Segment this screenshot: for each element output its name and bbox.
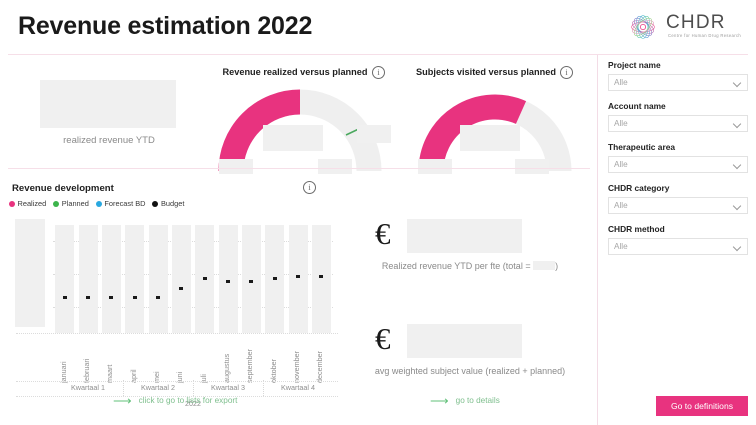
gauge-revenue-realized-vs-planned: Revenue realized versus planned i	[205, 63, 395, 208]
header: Revenue estimation 2022 CHDR Centre for …	[0, 0, 756, 55]
filter-dropdown[interactable]: Alle	[608, 197, 748, 214]
month-label: juni	[175, 335, 184, 383]
chart-bar[interactable]	[149, 225, 168, 333]
realized-revenue-ytd-label: realized revenue YTD	[20, 135, 198, 146]
kpi-realized-revenue-per-fte: € Realized revenue YTD per fte (total = …	[355, 217, 585, 257]
quarter-label: Kwartaal 4	[263, 383, 333, 392]
kpi-1-label-suffix: )	[555, 261, 558, 271]
budget-marker	[86, 296, 90, 299]
link-label: click to go to lists for export	[139, 396, 238, 405]
go-to-definitions-button[interactable]: Go to definitions	[656, 396, 748, 416]
chart-bar[interactable]	[289, 225, 308, 333]
budget-marker	[319, 275, 323, 278]
legend-swatch-planned	[53, 201, 59, 207]
y-axis-labels-redacted	[15, 219, 45, 327]
filter-pane: Project name Alle Account name Alle Ther…	[600, 55, 756, 425]
gauge-1-max	[318, 159, 352, 174]
quarter-tick	[263, 380, 264, 396]
link-lists-for-export[interactable]: ⟶ click to go to lists for export	[113, 395, 237, 406]
gauge-1-target	[357, 125, 391, 143]
filter-label: Therapeutic area	[608, 142, 748, 152]
chdr-logo: CHDR Centre for Human Drug Research	[624, 6, 744, 48]
month-label: januari	[59, 335, 68, 383]
filter-therapeutic-area: Therapeutic area Alle	[608, 142, 748, 173]
chdr-spirograph-icon	[624, 8, 662, 46]
legend-item: Realized	[9, 199, 46, 208]
chart-bar[interactable]	[55, 225, 74, 333]
kpi-1-value	[407, 219, 522, 253]
filter-label: CHDR category	[608, 183, 748, 193]
budget-marker	[109, 296, 113, 299]
chart-bar[interactable]	[125, 225, 144, 333]
month-label: december	[315, 335, 324, 383]
chevron-down-icon	[734, 162, 741, 169]
budget-marker	[249, 280, 253, 283]
quarter-label: Kwartaal 2	[123, 383, 193, 392]
logo-wordmark: CHDR	[666, 12, 726, 34]
legend-item: Forecast BD	[96, 199, 146, 208]
kpi-2-label: avg weighted subject value (realized + p…	[355, 366, 585, 376]
dashboard-page: Revenue estimation 2022 CHDR Centre for …	[0, 0, 756, 425]
info-icon[interactable]: i	[560, 66, 573, 79]
report-canvas: realized revenue YTD Revenue realized ve…	[0, 55, 598, 425]
month-label: februari	[82, 335, 91, 383]
budget-marker	[203, 277, 207, 280]
arrow-right-icon: ⟶	[430, 395, 449, 406]
filter-dropdown[interactable]: Alle	[608, 115, 748, 132]
chevron-down-icon	[734, 203, 741, 210]
info-icon[interactable]: i	[303, 181, 316, 194]
month-label: november	[292, 335, 301, 383]
gauge-2-max	[515, 159, 549, 174]
budget-marker	[156, 296, 160, 299]
pane-divider	[597, 55, 598, 425]
gauge-1-min	[219, 159, 253, 174]
filter-label: CHDR method	[608, 224, 748, 234]
legend-swatch-forecast-bd	[96, 201, 102, 207]
filter-dropdown[interactable]: Alle	[608, 238, 748, 255]
chart-legend: Realized Planned Forecast BD Budget	[9, 199, 184, 208]
chevron-down-icon	[734, 80, 741, 87]
chart-bar[interactable]	[102, 225, 121, 333]
arrow-right-icon: ⟶	[113, 395, 132, 406]
month-label: september	[245, 335, 254, 383]
kpi-1-label-prefix: Realized revenue YTD per fte (total =	[382, 261, 533, 271]
filter-dropdown[interactable]: Alle	[608, 74, 748, 91]
legend-swatch-budget	[152, 201, 158, 207]
filter-value: Alle	[614, 119, 628, 128]
filter-value: Alle	[614, 201, 628, 210]
chart-quarter-axis-line	[16, 381, 338, 382]
filter-project-name: Project name Alle	[608, 60, 748, 91]
chart-plot-area	[53, 215, 333, 333]
gauge-2-value	[460, 125, 520, 151]
chart-axis-line	[16, 333, 338, 334]
filter-label: Project name	[608, 60, 748, 70]
chart-month-axis: januarifebruarimaartaprilmeijunijuliaugu…	[53, 335, 333, 383]
legend-label: Forecast BD	[104, 199, 145, 208]
kpi-2-value	[407, 324, 522, 358]
euro-symbol: €	[375, 320, 391, 358]
revenue-development-chart: januarifebruarimaartaprilmeijunijuliaugu…	[8, 215, 338, 380]
filter-chdr-method: CHDR method Alle	[608, 224, 748, 255]
legend-label: Realized	[18, 199, 47, 208]
month-label: april	[129, 335, 138, 383]
month-label: juli	[199, 335, 208, 383]
month-label: oktober	[269, 335, 278, 383]
filter-value: Alle	[614, 160, 628, 169]
gauge-1-title: Revenue realized versus planned	[215, 67, 375, 77]
filter-value: Alle	[614, 78, 628, 87]
quarter-tick	[193, 380, 194, 396]
filter-account-name: Account name Alle	[608, 101, 748, 132]
budget-marker	[296, 275, 300, 278]
month-label: maart	[105, 335, 114, 383]
section-divider	[8, 168, 590, 169]
revenue-development-title: Revenue development	[12, 183, 114, 194]
gauge-subjects-visited-vs-planned: Subjects visited versus planned i	[400, 63, 590, 208]
link-label: go to details	[456, 396, 500, 405]
quarter-label: Kwartaal 3	[193, 383, 263, 392]
budget-marker	[63, 296, 67, 299]
gauge-2-min	[418, 159, 452, 174]
chart-bar[interactable]	[79, 225, 98, 333]
page-title: Revenue estimation 2022	[18, 12, 312, 41]
budget-marker	[179, 287, 183, 290]
chevron-down-icon	[734, 244, 741, 251]
legend-label: Budget	[161, 199, 184, 208]
legend-label: Planned	[62, 199, 89, 208]
chart-bar[interactable]	[172, 225, 191, 333]
euro-symbol: €	[375, 215, 391, 253]
month-label: mei	[152, 335, 161, 383]
kpi-avg-weighted-subject-value: € avg weighted subject value (realized +…	[355, 322, 585, 362]
budget-marker	[226, 280, 230, 283]
logo-tagline: Centre for Human Drug Research	[668, 33, 741, 38]
quarter-label: Kwartaal 1	[53, 383, 123, 392]
budget-marker	[273, 277, 277, 280]
filter-value: Alle	[614, 242, 628, 251]
kpi-1-total-redacted	[533, 261, 555, 270]
month-label: augustus	[222, 335, 231, 383]
chart-bar[interactable]	[312, 225, 331, 333]
filter-dropdown[interactable]: Alle	[608, 156, 748, 173]
gauge-2-title: Subjects visited versus planned	[406, 67, 566, 77]
chevron-down-icon	[734, 121, 741, 128]
link-go-to-details[interactable]: ⟶ go to details	[430, 395, 500, 406]
filter-label: Account name	[608, 101, 748, 111]
legend-swatch-realized	[9, 201, 15, 207]
legend-item: Planned	[53, 199, 89, 208]
info-icon[interactable]: i	[372, 66, 385, 79]
legend-item: Budget	[152, 199, 184, 208]
filter-chdr-category: CHDR category Alle	[608, 183, 748, 214]
kpi-1-label: Realized revenue YTD per fte (total = )	[355, 261, 585, 271]
realized-revenue-ytd-value	[40, 80, 176, 128]
gauge-1-value	[263, 125, 323, 151]
budget-marker	[133, 296, 137, 299]
